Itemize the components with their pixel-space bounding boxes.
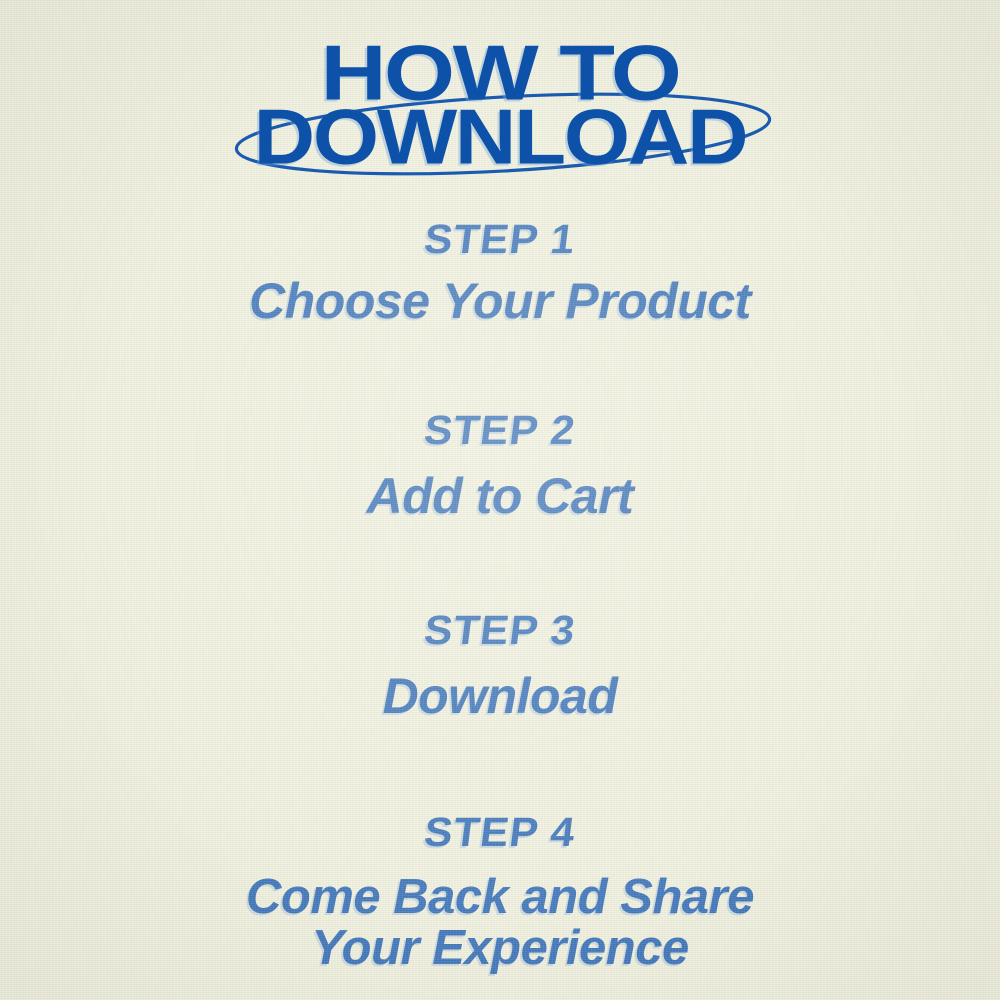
step-2-label: STEP 2 <box>0 409 1000 452</box>
step-item-3: STEP 3 Download <box>0 609 1000 722</box>
step-3-label: STEP 3 <box>0 609 1000 652</box>
step-1-label: STEP 1 <box>0 218 1000 261</box>
step-3-description: Download <box>0 670 1000 722</box>
step-item-1: STEP 1 Choose Your Product <box>0 218 1000 327</box>
title-line-download: DOWNLOAD <box>0 99 1000 177</box>
step-4-label: STEP 4 <box>0 811 1000 854</box>
step-4-description-line-1: Come Back and Share <box>246 870 754 924</box>
step-2-description: Add to Cart <box>0 470 1000 522</box>
step-4-description: Come Back and Share Your Experience <box>0 872 1000 974</box>
step-1-description: Choose Your Product <box>0 275 1000 327</box>
step-item-2: STEP 2 Add to Cart <box>0 409 1000 522</box>
step-item-4: STEP 4 Come Back and Share Your Experien… <box>0 811 1000 974</box>
title-block: HOW TO DOWNLOAD <box>0 0 1000 205</box>
step-4-description-line-2: Your Experience <box>0 923 1000 974</box>
steps-list: STEP 1 Choose Your Product STEP 2 Add to… <box>0 200 1000 974</box>
poster-canvas: HOW TO DOWNLOAD STEP 1 Choose Your Produ… <box>0 0 1000 1000</box>
